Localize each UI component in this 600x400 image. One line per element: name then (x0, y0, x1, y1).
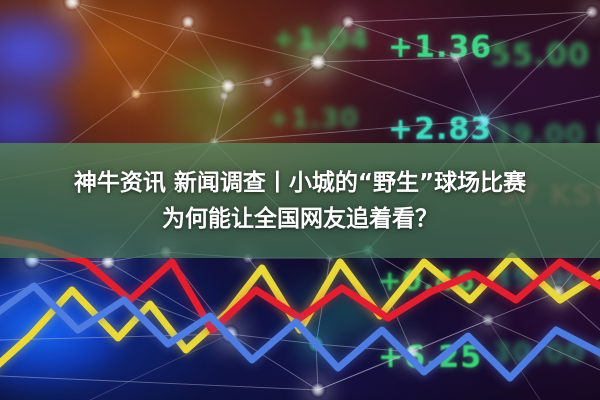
headline-line-2: 为何能让全国网友追着看？ (162, 204, 438, 234)
banner-image: +1.04+1.3655.00 U+1.30+2.8339.00 U新闻37 K… (0, 0, 600, 400)
headline-line-1: 神牛资讯 新闻调查丨小城的“野生”球场比赛 (74, 168, 526, 198)
headline-block: 神牛资讯 新闻调查丨小城的“野生”球场比赛 为何能让全国网友追着看？ (0, 143, 600, 258)
